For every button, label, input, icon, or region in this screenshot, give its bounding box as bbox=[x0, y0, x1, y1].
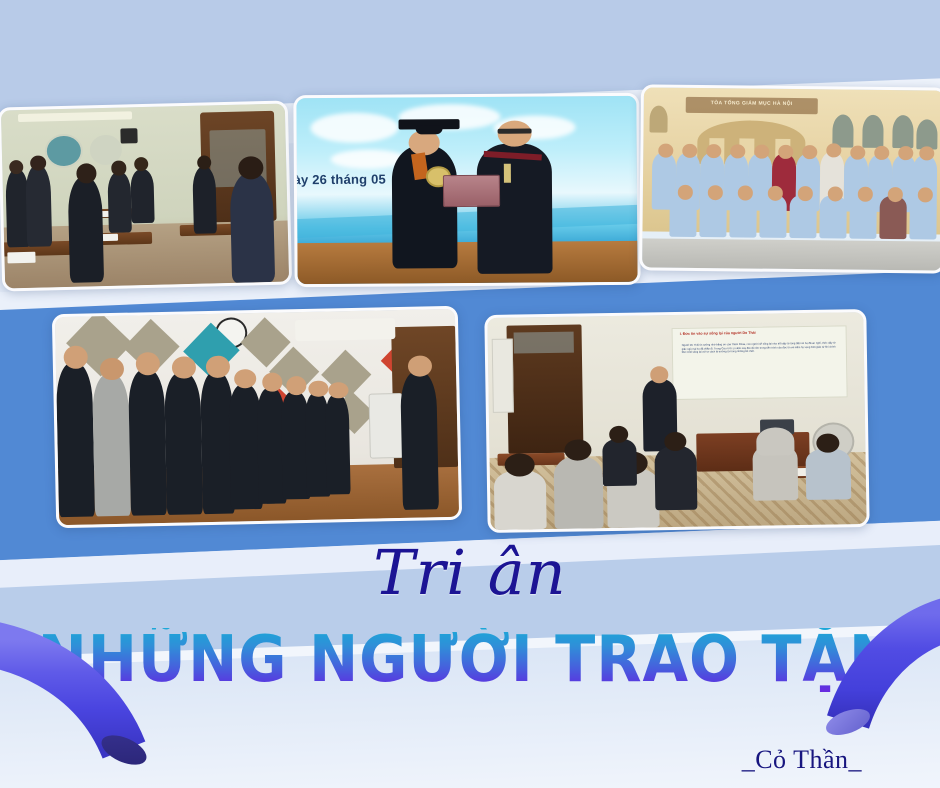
scene-person-front-head bbox=[767, 186, 782, 201]
scene-paper-2 bbox=[7, 252, 36, 263]
scene-person bbox=[128, 369, 167, 515]
scene-student bbox=[602, 439, 637, 486]
scene-person-front bbox=[819, 195, 846, 238]
scene-person-front-head bbox=[887, 187, 902, 202]
signature: _Cỏ Thần_ bbox=[742, 745, 862, 775]
scene-person-front bbox=[849, 196, 876, 239]
scene-building-sign-wrap: TÒA TỔNG GIÁM MỤC HÀ NỘI bbox=[686, 97, 818, 115]
scene-person-front bbox=[669, 194, 696, 237]
scene-window bbox=[649, 105, 667, 132]
scene-graduate-cap-crown bbox=[416, 125, 443, 134]
scene-bishop-cassock bbox=[477, 143, 553, 274]
scene-person-front-head bbox=[797, 186, 812, 201]
scene-person-front-head bbox=[707, 185, 722, 200]
scene-instructor-head bbox=[408, 355, 432, 376]
scene-person-head bbox=[197, 155, 212, 170]
scene-person bbox=[193, 166, 217, 234]
scene-person-front-head bbox=[917, 187, 932, 202]
scene-bishop-pectoral-cross bbox=[504, 164, 511, 183]
scene-person-front-plaid bbox=[879, 196, 906, 239]
scene-person bbox=[325, 394, 351, 494]
scene-person bbox=[68, 176, 105, 284]
scene-slide-body: Người Do Thái tin tưởng nhớ bằng ơn của … bbox=[682, 342, 836, 355]
scene-student-head bbox=[664, 431, 687, 450]
photo-graduation-scene: ày 26 tháng 05 bbox=[296, 96, 637, 284]
scene-student-veil bbox=[756, 428, 794, 456]
scene-person bbox=[130, 169, 154, 223]
scene-student bbox=[494, 470, 548, 530]
scene-door-transom bbox=[514, 331, 574, 353]
scene-building-sign: TÒA TỔNG GIÁM MỤC HÀ NỘI bbox=[686, 97, 818, 115]
scene-ceiling-light bbox=[295, 318, 395, 341]
scene-student bbox=[805, 448, 851, 500]
scene-student-head bbox=[816, 433, 839, 452]
scene-person-head bbox=[111, 161, 126, 176]
scene-person-front-head bbox=[827, 187, 842, 202]
scene-backdrop-text: ày 26 tháng 05 bbox=[296, 172, 386, 188]
photo-group-courtyard: TÒA TỔNG GIÁM MỤC HÀ NỘI bbox=[639, 84, 940, 273]
scene-window bbox=[862, 115, 883, 148]
scene-speaker bbox=[121, 129, 138, 144]
photo-lecture-projector: I. Đức tin vào sự sống lại của người Do … bbox=[484, 309, 869, 533]
photo-group-scene: TÒA TỔNG GIÁM MỤC HÀ NỘI bbox=[642, 87, 940, 270]
page-title: NHỮNG NGƯỜI TRAO TẶNG bbox=[38, 628, 903, 692]
scene-student-head bbox=[564, 439, 591, 461]
scene-person bbox=[56, 362, 95, 517]
photo-classroom-standing bbox=[0, 100, 292, 291]
scene-person-grey bbox=[92, 374, 131, 516]
scene-person-front bbox=[699, 194, 726, 237]
scene-diploma bbox=[443, 175, 500, 207]
photo-acoustic-room-line bbox=[52, 306, 462, 528]
photo-acoustic-room-scene bbox=[55, 309, 459, 525]
scene-ground bbox=[642, 239, 940, 271]
scene-window bbox=[892, 115, 913, 148]
scene-bishop-head bbox=[497, 121, 531, 147]
scene-window bbox=[832, 115, 853, 148]
scene-person bbox=[107, 171, 131, 232]
scene-person-front-head bbox=[857, 187, 872, 202]
scene-bishop-glasses bbox=[497, 128, 531, 134]
scene-person bbox=[25, 164, 53, 246]
scene-person bbox=[164, 372, 203, 514]
scene-person-front-head bbox=[677, 185, 692, 200]
scene-person-front bbox=[789, 195, 816, 238]
photo-lecture-scene: I. Đức tin vào sự sống lại của người Do … bbox=[487, 312, 866, 530]
scene-person-front bbox=[909, 196, 936, 239]
scene-person-front bbox=[759, 195, 786, 238]
scene-person-front bbox=[729, 195, 756, 238]
scene-window bbox=[916, 119, 937, 150]
scene-slide-title: I. Đức tin vào sự sống lại của người Do … bbox=[680, 330, 839, 337]
photo-graduation-diploma: ày 26 tháng 05 bbox=[293, 93, 640, 287]
script-title: Tri ân bbox=[0, 542, 940, 604]
scene-person-front-head bbox=[737, 186, 752, 201]
scene-instructor bbox=[400, 372, 439, 510]
scene-stage bbox=[297, 241, 637, 284]
photo-classroom-standing-scene bbox=[1, 104, 289, 289]
scene-whiteboard bbox=[491, 339, 513, 413]
scene-air-conditioner bbox=[369, 393, 404, 458]
scene-projector-screen: I. Đức tin vào sự sống lại của người Do … bbox=[672, 325, 848, 400]
scene-cloud bbox=[310, 112, 399, 142]
scene-person-head bbox=[76, 163, 96, 183]
scene-person-foreground bbox=[230, 172, 275, 283]
poster-canvas: ày 26 tháng 05 TÒA TỔNG GIÁM MỤC HÀ NỘI bbox=[0, 0, 940, 788]
scene-student bbox=[553, 456, 603, 529]
scene-student bbox=[655, 446, 697, 510]
